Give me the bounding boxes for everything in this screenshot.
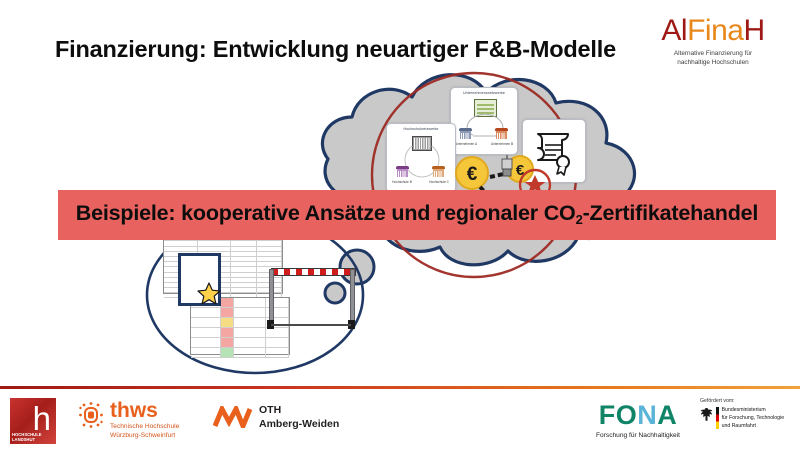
mini-card-unternehmensnetzwerke: Unternehmensnetzwerke Unternehmen A Unte…: [450, 87, 518, 155]
hochschule-c-building-icon: [432, 166, 445, 177]
eu-star-icon: [196, 281, 222, 307]
footer-logo-bar: h HOCHSCHULE LANDSHUT thws Technische Ho…: [0, 392, 800, 450]
mini-card-node-label: Unternehmen A: [453, 142, 479, 146]
banner-subscript: 2: [576, 212, 583, 227]
mini-card-title: Hochschulnetzwerke: [387, 127, 455, 131]
alfinah-wordmark: AlFinaH: [638, 16, 788, 46]
federal-eagle-icon: [700, 407, 713, 422]
presentation-slide: Finanzierung: Entwicklung neuartiger F&B…: [0, 0, 800, 450]
small-factory-icon: [496, 155, 518, 179]
unternehmen-b-building-icon: [495, 128, 508, 139]
alfinah-part-al: Al: [661, 14, 687, 47]
thws-subtitle: Technische Hochschule Würzburg-Schweinfu…: [110, 422, 179, 440]
bmbf-name-line-2: für Forschung, Technologie: [722, 415, 784, 423]
bmbf-lead-text: Gefördert vom:: [700, 398, 796, 404]
thws-mark-icon: [78, 402, 104, 428]
landshut-tagline-line-1: HOCHSCHULE: [12, 432, 42, 437]
oth-mark-icon: [213, 406, 253, 428]
alfinah-part-fina: Fina: [687, 14, 743, 47]
mini-card-title: Unternehmensnetzwerke: [451, 91, 517, 95]
hochschule-b-building-icon: [396, 166, 409, 177]
barrier-gate-bar: [271, 268, 356, 276]
fona-subtitle: Forschung für Nachhaltigkeit: [578, 432, 698, 439]
logo-fona: FONA Forschung für Nachhaltigkeit: [578, 402, 698, 439]
banner-text: Beispiele: kooperative Ansätze und regio…: [58, 201, 776, 226]
oth-wordmark-line-2: Amberg-Weiden: [259, 418, 339, 432]
bmbf-name-line-1: Bundesministerium: [722, 407, 784, 415]
oth-wordmark: OTH Amberg-Weiden: [259, 404, 339, 431]
landshut-h-mark: h: [33, 402, 51, 435]
thws-subtitle-line-2: Würzburg-Schweinfurt: [110, 431, 179, 440]
lower-left-montage: [150, 225, 385, 380]
unternehmen-a-building-icon: [459, 128, 472, 139]
fona-part-fo: FO: [599, 400, 638, 430]
thws-wordmark: thws: [110, 400, 158, 421]
landshut-tagline: HOCHSCHULE LANDSHUT: [12, 432, 42, 443]
alfinah-part-h: H: [743, 14, 764, 47]
svg-text:€: €: [467, 164, 478, 185]
logo-hochschule-landshut: h HOCHSCHULE LANDSHUT: [10, 398, 56, 444]
banner-text-after: -Zertifikatehandel: [583, 201, 759, 225]
german-flag-bar: [716, 407, 719, 429]
banner-text-before: Beispiele: kooperative Ansätze und regio…: [76, 201, 576, 225]
thws-subtitle-line-1: Technische Hochschule: [110, 422, 179, 431]
mini-card-node-label: Hochschule C: [425, 180, 453, 184]
footer-divider: [0, 386, 800, 389]
mini-card-node-label: Hochschule B: [388, 180, 416, 184]
oth-wordmark-line-1: OTH: [259, 404, 339, 418]
landshut-tagline-line-2: LANDSHUT: [12, 437, 42, 442]
logo-bmbf-funding: Gefördert vom: Bundesministerium für For…: [700, 398, 796, 430]
fona-part-n: N: [637, 400, 657, 430]
bmbf-body: Bundesministerium für Forschung, Technol…: [700, 407, 796, 430]
mini-card-hochschulnetzwerke: Hochschulnetzwerke Hochschule B Hochschu…: [386, 123, 456, 193]
highlight-banner: Beispiele: kooperative Ansätze und regio…: [58, 190, 776, 240]
barrier-gate-base-line: [271, 324, 351, 326]
bmbf-ministry-name: Bundesministerium für Forschung, Technol…: [722, 407, 784, 430]
fona-part-a: A: [657, 400, 677, 430]
bmbf-name-line-3: und Raumfahrt: [722, 423, 784, 431]
mini-card-node-label: Unternehmen B: [489, 142, 515, 146]
fona-wordmark: FONA: [578, 402, 698, 429]
